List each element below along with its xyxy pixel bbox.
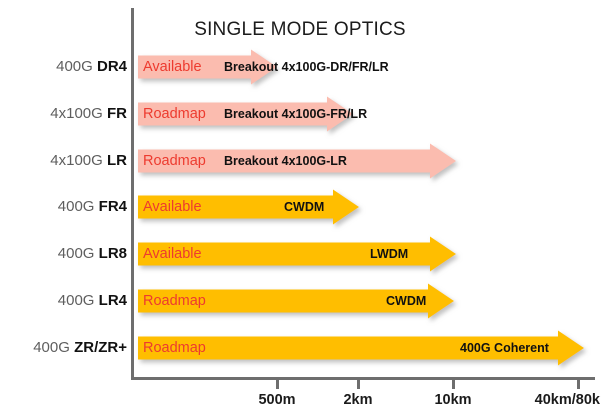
row-label-suffix: DR4 xyxy=(97,58,127,75)
row-label-lr8: 400G LR8 xyxy=(58,246,127,261)
row-label-prefix: 400G xyxy=(33,339,74,356)
x-axis-tick xyxy=(577,380,580,389)
row-label-suffix: LR xyxy=(107,152,127,169)
row-label-suffix: FR4 xyxy=(99,198,127,215)
row-label-lr4: 400G LR4 xyxy=(58,293,127,308)
bar-technology-label: Breakout 4x100G-DR/FR/LR xyxy=(224,49,389,85)
bar-technology-label: LWDM xyxy=(370,236,408,272)
reach-bar-lr4[interactable]: RoadmapCWDM xyxy=(138,283,454,319)
reach-bar-dr4[interactable]: AvailableBreakout 4x100G-DR/FR/LR xyxy=(138,49,277,85)
row-label-prefix: 4x100G xyxy=(50,152,107,169)
row-label-lr: 4x100G LR xyxy=(50,153,127,168)
row-label-suffix: LR4 xyxy=(99,292,127,309)
bar-status-label: Available xyxy=(143,189,202,225)
chart-title: SINGLE MODE OPTICS xyxy=(150,19,450,41)
row-label-prefix: 4x100G xyxy=(50,105,107,122)
bar-technology-label: CWDM xyxy=(386,283,426,319)
row-label-prefix: 400G xyxy=(58,245,99,262)
bar-technology-label: Breakout 4x100G-LR xyxy=(224,143,347,179)
reach-bar-lr8[interactable]: AvailableLWDM xyxy=(138,236,456,272)
x-axis-tick-label: 2km xyxy=(343,392,372,408)
single-mode-optics-chart: SINGLE MODE OPTICS 500m2km10km40km/80km+… xyxy=(0,0,601,419)
bar-status-label: Roadmap xyxy=(143,283,206,319)
reach-bar-lr[interactable]: RoadmapBreakout 4x100G-LR xyxy=(138,143,456,179)
bar-status-label: Roadmap xyxy=(143,330,206,366)
bar-status-label: Available xyxy=(143,49,202,85)
bar-technology-label: 400G Coherent xyxy=(460,330,549,366)
x-axis-tick xyxy=(276,380,279,389)
row-label-zr-zr-: 400G ZR/ZR+ xyxy=(33,340,127,355)
row-label-suffix: FR xyxy=(107,105,127,122)
row-label-suffix: ZR/ZR+ xyxy=(74,339,127,356)
x-axis-tick-label: 500m xyxy=(258,392,295,408)
row-label-suffix: LR8 xyxy=(99,245,127,262)
x-axis-tick xyxy=(357,380,360,389)
reach-bar-zr-zr-[interactable]: Roadmap400G Coherent xyxy=(138,330,584,366)
row-label-fr: 4x100G FR xyxy=(50,106,127,121)
bar-status-label: Roadmap xyxy=(143,96,206,132)
x-axis-tick-label: 10km xyxy=(434,392,471,408)
bar-technology-label: Breakout 4x100G-FR/LR xyxy=(224,96,367,132)
bar-status-label: Roadmap xyxy=(143,143,206,179)
y-axis-line xyxy=(131,8,134,380)
row-label-prefix: 400G xyxy=(58,198,99,215)
x-axis-tick-label: 40km/80km+ xyxy=(535,392,601,408)
reach-bar-fr[interactable]: RoadmapBreakout 4x100G-FR/LR xyxy=(138,96,353,132)
x-axis-tick xyxy=(452,380,455,389)
row-label-prefix: 400G xyxy=(56,58,97,75)
reach-bar-fr4[interactable]: AvailableCWDM xyxy=(138,189,359,225)
bar-status-label: Available xyxy=(143,236,202,272)
bar-technology-label: CWDM xyxy=(284,189,324,225)
row-label-dr4: 400G DR4 xyxy=(56,59,127,74)
x-axis-line xyxy=(131,377,595,380)
row-label-fr4: 400G FR4 xyxy=(58,199,127,214)
row-label-prefix: 400G xyxy=(58,292,99,309)
